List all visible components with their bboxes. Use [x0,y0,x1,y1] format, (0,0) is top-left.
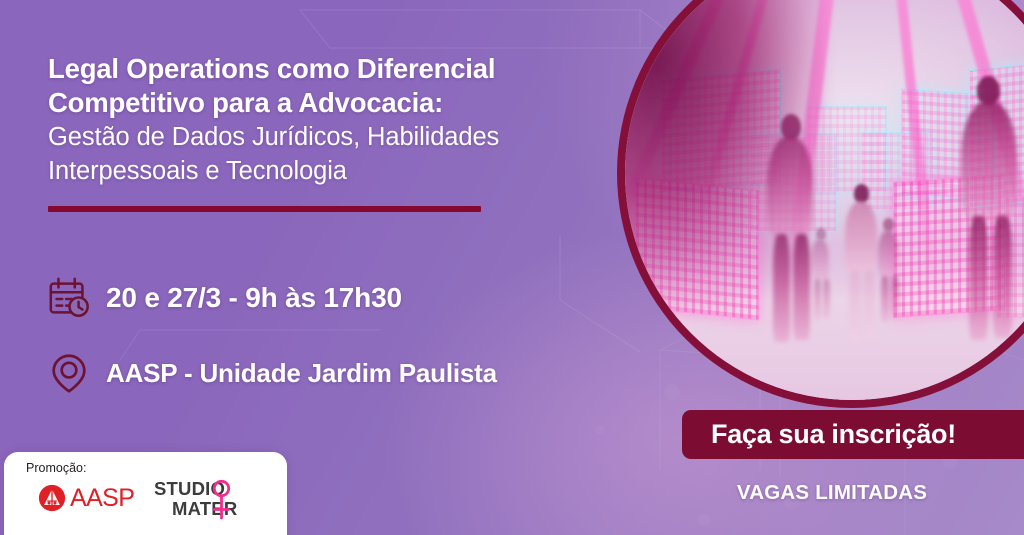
aasp-wordmark: AASP [70,486,134,511]
page-title: Legal Operations como Diferencial Compet… [48,52,578,188]
register-button-label: Faça sua inscrição! [711,419,956,450]
event-date-row: 20 e 27/3 - 9h às 17h30 [46,275,402,321]
hero-image [625,0,1024,400]
hero-edge-shadow [625,0,825,309]
headline-line-3: Gestão de Dados Jurídicos, Habilidades [48,120,578,154]
map-pin-icon [46,350,92,396]
scales-of-justice-icon [38,484,66,512]
studio-mater-logo[interactable]: STUDIO MATER [154,478,272,522]
walking-figure [947,76,1024,342]
event-promo-banner: Legal Operations como Diferencial Compet… [0,0,1024,535]
hero-image-circle [617,0,1024,408]
headline-line-1: Legal Operations como Diferencial [48,52,578,86]
limited-seats-note: VAGAS LIMITADAS [682,481,982,505]
register-button[interactable]: Faça sua inscrição! [682,410,1024,459]
event-date-text: 20 e 27/3 - 9h às 17h30 [106,282,402,314]
calendar-clock-icon [46,275,92,321]
sponsors-label: Promoção: [26,461,86,475]
event-location-text: AASP - Unidade Jardim Paulista [106,358,497,389]
title-divider [48,206,481,212]
sponsors-card: Promoção: AASP STUDIO MATER [4,452,287,535]
walking-figure [873,218,903,322]
event-location-row: AASP - Unidade Jardim Paulista [46,350,497,396]
headline-line-4: Interpessoais e Tecnologia [48,154,578,188]
aasp-logo[interactable]: AASP [38,484,134,512]
headline-line-2: Competitivo para a Advocacia: [48,86,578,120]
